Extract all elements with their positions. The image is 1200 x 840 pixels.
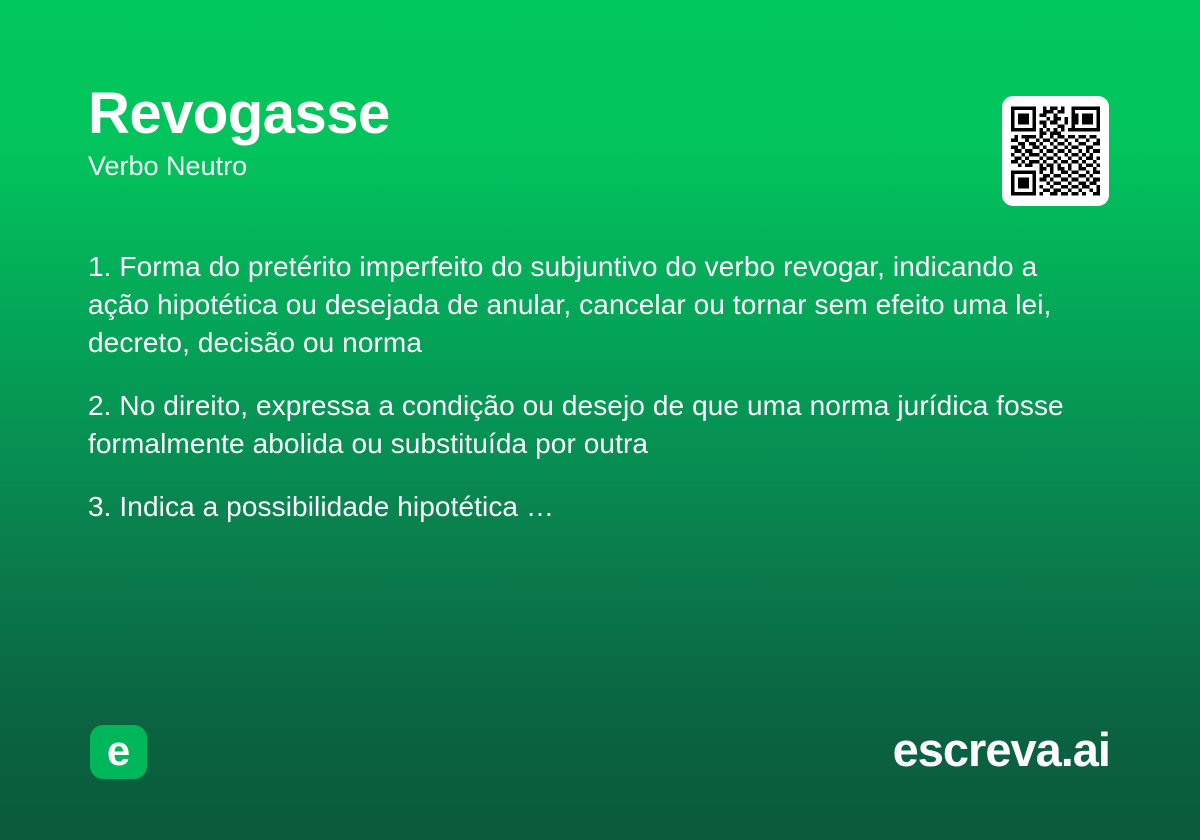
qr-code-icon: [1011, 105, 1100, 197]
definition-item: 3. Indica a possibilidade hipotética …: [88, 488, 1100, 526]
definition-item: 1. Forma do pretérito imperfeito do subj…: [88, 248, 1100, 362]
brand-wordmark: escreva.ai: [893, 722, 1110, 778]
brand-logo-letter: e: [107, 730, 130, 772]
definition-item: 2. No direito, expressa a condição ou de…: [88, 387, 1100, 463]
page-title: Revogasse: [88, 84, 968, 144]
definition-list: 1. Forma do pretérito imperfeito do subj…: [88, 248, 1100, 526]
card-header: Revogasse Verbo Neutro: [88, 84, 968, 182]
brand-logo-icon[interactable]: e: [90, 725, 147, 779]
qr-code-card[interactable]: [1002, 96, 1109, 206]
definition-card: Revogasse Verbo Neutro 1. Forma do preté…: [0, 0, 1200, 840]
word-class-label: Verbo Neutro: [88, 150, 968, 182]
